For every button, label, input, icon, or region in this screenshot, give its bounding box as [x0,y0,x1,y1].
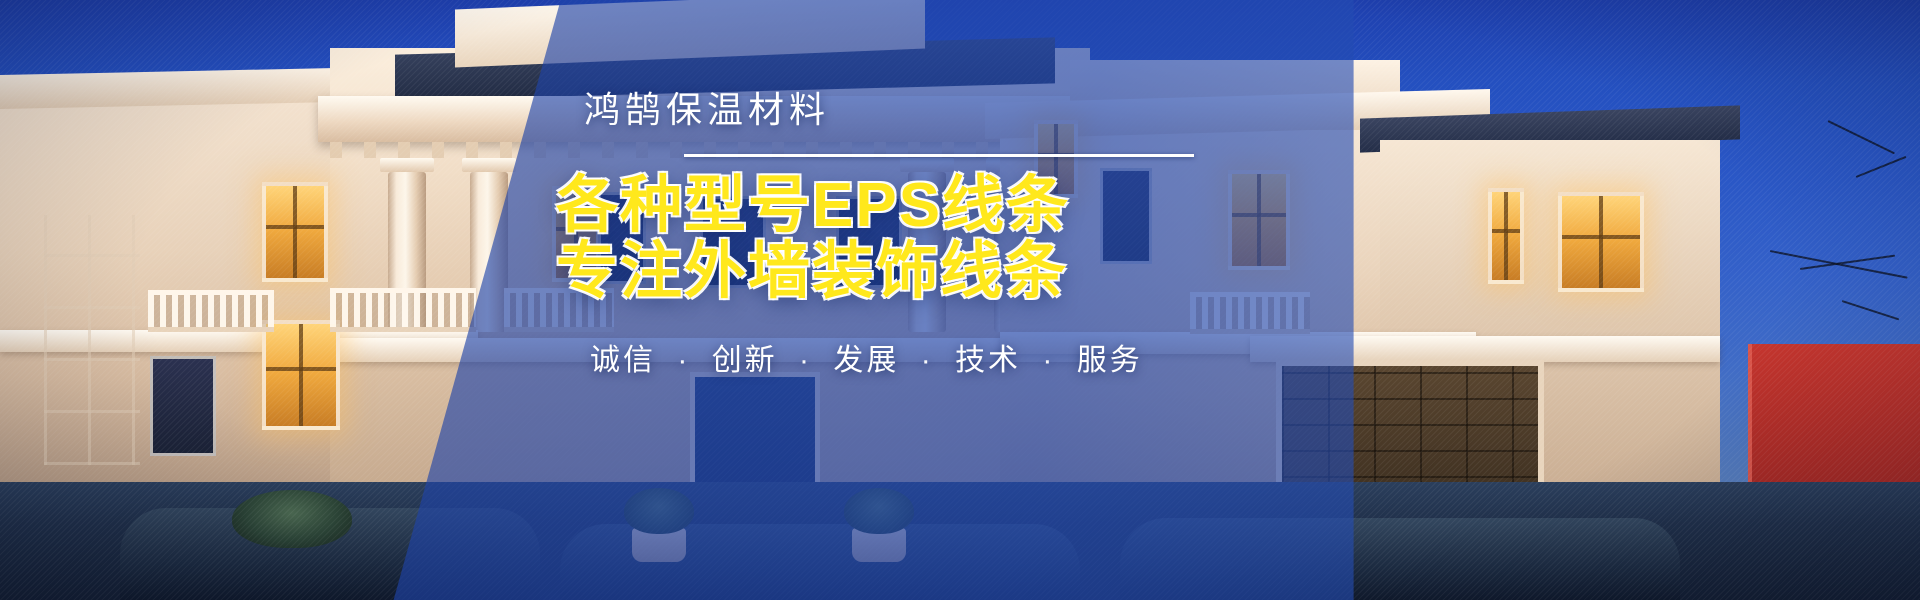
shrub [232,490,352,548]
villa-window-lit [262,320,340,430]
headline-line-1: 各种型号EPS线条 [556,173,1256,239]
villa-scaffold [44,215,140,465]
tagline-separator: · [799,344,812,377]
divider-rule [684,154,1194,157]
villa-window-lit [262,182,328,282]
tagline-separator: · [677,344,690,377]
tagline-item-4: 服务 [1077,344,1143,377]
villa-window [150,356,216,456]
villa-string-course [1250,336,1720,362]
tagline-separator: · [921,344,934,377]
tagline-separator: · [1042,344,1055,377]
tagline-item-1: 创新 [712,344,778,377]
brand-name: 鸿鹄保温材料 [584,92,1256,128]
tagline: 诚信 · 创新 · 发展 · 技术 · 服务 [590,346,1256,376]
headline-line-2: 专注外墙装饰线条 [556,239,1256,305]
tagline-item-2: 发展 [833,344,899,377]
villa-balustrade [330,288,476,332]
villa-balustrade [148,290,274,332]
shrub [624,488,694,534]
tagline-item-3: 技术 [955,344,1021,377]
promo-banner: 鸿鹄保温材料 各种型号EPS线条 专注外墙装饰线条 诚信 · 创新 · 发展 ·… [0,0,1920,600]
hedge-right [1120,518,1680,600]
villa-window-lit [1558,192,1644,292]
banner-copy: 鸿鹄保温材料 各种型号EPS线条 专注外墙装饰线条 诚信 · 创新 · 发展 ·… [556,92,1256,376]
villa-column-cap [380,158,434,172]
tagline-item-0: 诚信 [590,344,656,377]
villa-column-cap [462,158,516,172]
headline: 各种型号EPS线条 专注外墙装饰线条 [556,173,1256,304]
villa-window-lit [1488,188,1524,284]
shrub [844,488,914,534]
